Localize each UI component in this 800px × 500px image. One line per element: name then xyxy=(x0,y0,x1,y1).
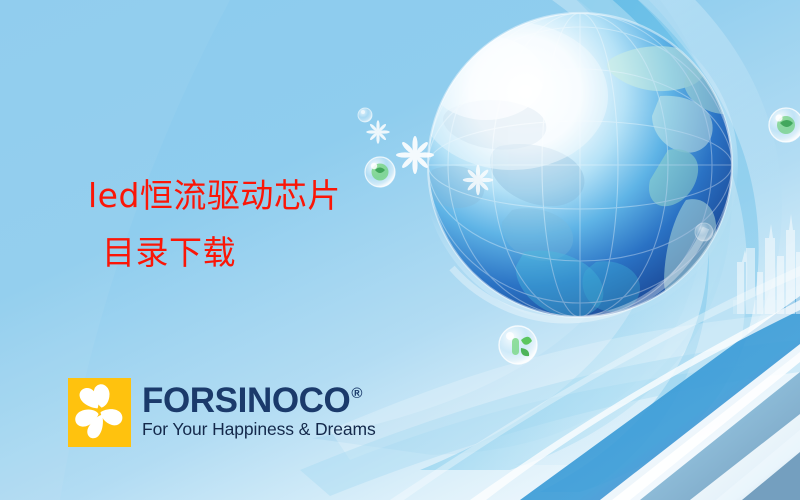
logo-tagline: For Your Happiness & Dreams xyxy=(142,419,376,440)
headline-text: led恒流驱动芯片 目录下载 xyxy=(88,168,341,282)
registered-trademark-icon: ® xyxy=(351,386,362,401)
company-logo[interactable]: FORSINOCO ® For Your Happiness & Dreams xyxy=(68,378,376,447)
four-petal-flower-icon xyxy=(68,378,131,447)
logo-mark-square xyxy=(68,378,131,447)
logo-text-block: FORSINOCO ® For Your Happiness & Dreams xyxy=(142,378,376,440)
headline-line-2: 目录下载 xyxy=(102,225,341,282)
bubble-globe-lower xyxy=(695,223,713,241)
bubble-green-sprout xyxy=(499,326,537,364)
bubble-green-globe xyxy=(365,157,395,187)
logo-wordmark: FORSINOCO ® xyxy=(142,384,376,418)
headline-line-1: led恒流驱动芯片 xyxy=(88,176,341,215)
bubble-small xyxy=(358,108,372,122)
logo-wordmark-text: FORSINOCO xyxy=(142,384,350,418)
banner-image: led恒流驱动芯片 目录下载 FORSINOCO ® For Your Happ… xyxy=(0,0,800,500)
bubble-edge-right xyxy=(769,108,800,142)
